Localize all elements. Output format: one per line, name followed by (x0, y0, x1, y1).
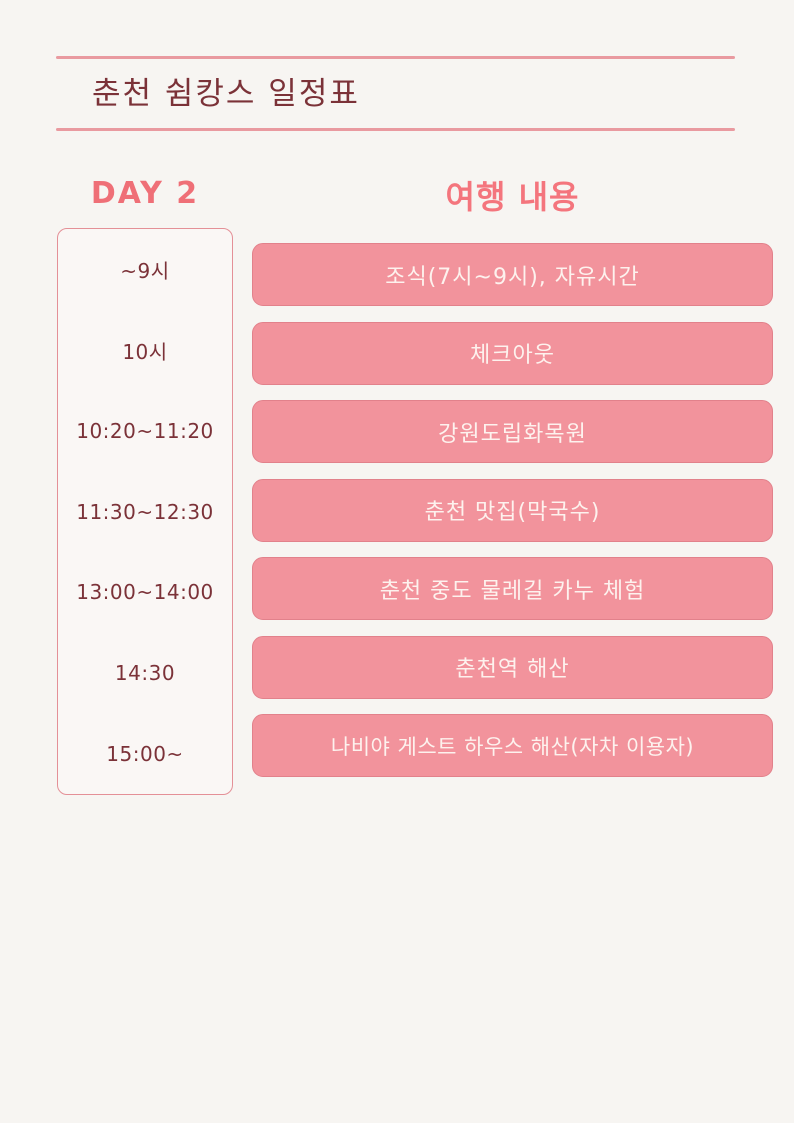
time-column: ~9시 10시 10:20~11:20 11:30~12:30 13:00~14… (57, 228, 233, 795)
time-cell: 13:00~14:00 (58, 552, 232, 633)
time-cell: 14:30 (58, 633, 232, 714)
itinerary-page: 춘천 쉼캉스 일정표 DAY 2 여행 내용 ~9시 10시 10:20~11:… (0, 0, 794, 1123)
activity-pill: 춘천역 해산 (252, 636, 773, 699)
time-cell: 10:20~11:20 (58, 390, 232, 471)
activity-pill: 강원도립화목원 (252, 400, 773, 463)
title-bottom-rule (56, 128, 735, 131)
activity-pill: 춘천 중도 물레길 카누 체험 (252, 557, 773, 620)
activity-pill: 나비야 게스트 하우스 해산(자차 이용자) (252, 714, 773, 777)
time-cell: 11:30~12:30 (58, 471, 232, 552)
column-header-day: DAY 2 (57, 176, 233, 211)
activity-pill: 조식(7시~9시), 자유시간 (252, 243, 773, 306)
activity-column: 조식(7시~9시), 자유시간 체크아웃 강원도립화목원 춘천 맛집(막국수) … (252, 243, 773, 777)
page-title: 춘천 쉼캉스 일정표 (56, 59, 735, 128)
time-cell: 10시 (58, 310, 232, 391)
time-cell: 15:00~ (58, 713, 232, 794)
column-header-content: 여행 내용 (252, 172, 773, 218)
title-block: 춘천 쉼캉스 일정표 (56, 56, 735, 131)
time-cell: ~9시 (58, 229, 232, 310)
activity-pill: 체크아웃 (252, 322, 773, 385)
activity-pill: 춘천 맛집(막국수) (252, 479, 773, 542)
